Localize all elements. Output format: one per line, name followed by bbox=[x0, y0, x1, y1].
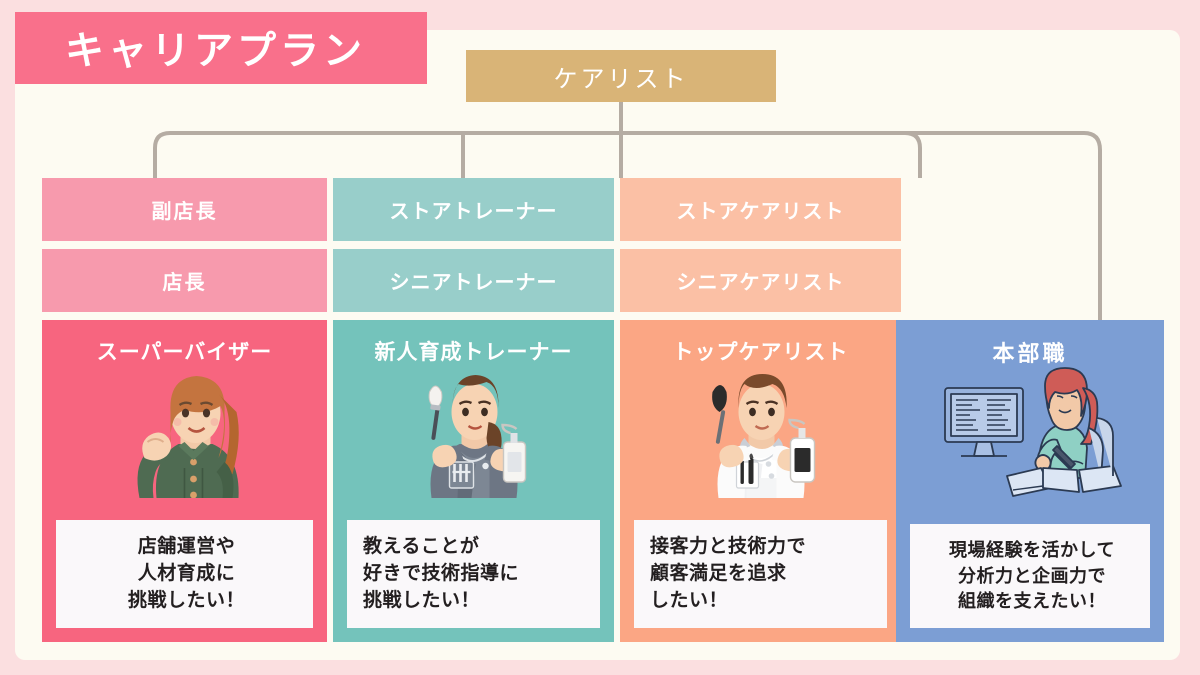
caption-line: 好きで技術指導に bbox=[363, 561, 588, 588]
root-node-label: ケアリスト bbox=[554, 59, 689, 94]
woman-at-desk-icon bbox=[896, 366, 1164, 498]
final-role-label: 本部職 bbox=[896, 336, 1164, 368]
final-role-label: トップケアリスト bbox=[620, 336, 901, 366]
caption-line: 挑戦したい！ bbox=[363, 588, 588, 615]
caption-line: 組織を支えたい！ bbox=[926, 589, 1138, 615]
caption-line: したい！ bbox=[650, 588, 875, 615]
caption-box: 接客力と技術力で 顧客満足を追求 したい！ bbox=[634, 520, 887, 628]
final-role-box: 本部職 bbox=[896, 320, 1164, 642]
esthetician-white-uniform-icon bbox=[620, 366, 901, 498]
caption-line: 挑戦したい！ bbox=[72, 588, 301, 615]
caption-line: 顧客満足を追求 bbox=[650, 561, 875, 588]
caption-line: 教えることが bbox=[363, 534, 588, 561]
woman-cheering-fist-icon bbox=[42, 366, 327, 498]
page-title: キャリアプラン bbox=[65, 20, 366, 76]
caption-line: 現場経験を活かして bbox=[926, 538, 1138, 564]
caption-box: 店舗運営や 人材育成に 挑戦したい！ bbox=[56, 520, 313, 628]
final-role-label: スーパーバイザー bbox=[42, 336, 327, 366]
caption-box: 現場経験を活かして 分析力と企画力で 組織を支えたい！ bbox=[910, 524, 1150, 628]
final-role-box: スーパーバイザー bbox=[42, 320, 327, 642]
page-title-banner: キャリアプラン bbox=[15, 12, 427, 84]
caption-box: 教えることが 好きで技術指導に 挑戦したい！ bbox=[347, 520, 600, 628]
final-role-box: トップケアリスト bbox=[620, 320, 901, 642]
root-node-carelist: ケアリスト bbox=[466, 50, 776, 102]
caption-line: 店舗運営や bbox=[72, 534, 301, 561]
final-role-box: 新人育成トレーナー bbox=[333, 320, 614, 642]
esthetician-gray-uniform-icon bbox=[333, 366, 614, 498]
caption-line: 接客力と技術力で bbox=[650, 534, 875, 561]
caption-line: 人材育成に bbox=[72, 561, 301, 588]
final-role-label: 新人育成トレーナー bbox=[333, 336, 614, 366]
caption-line: 分析力と企画力で bbox=[926, 564, 1138, 590]
